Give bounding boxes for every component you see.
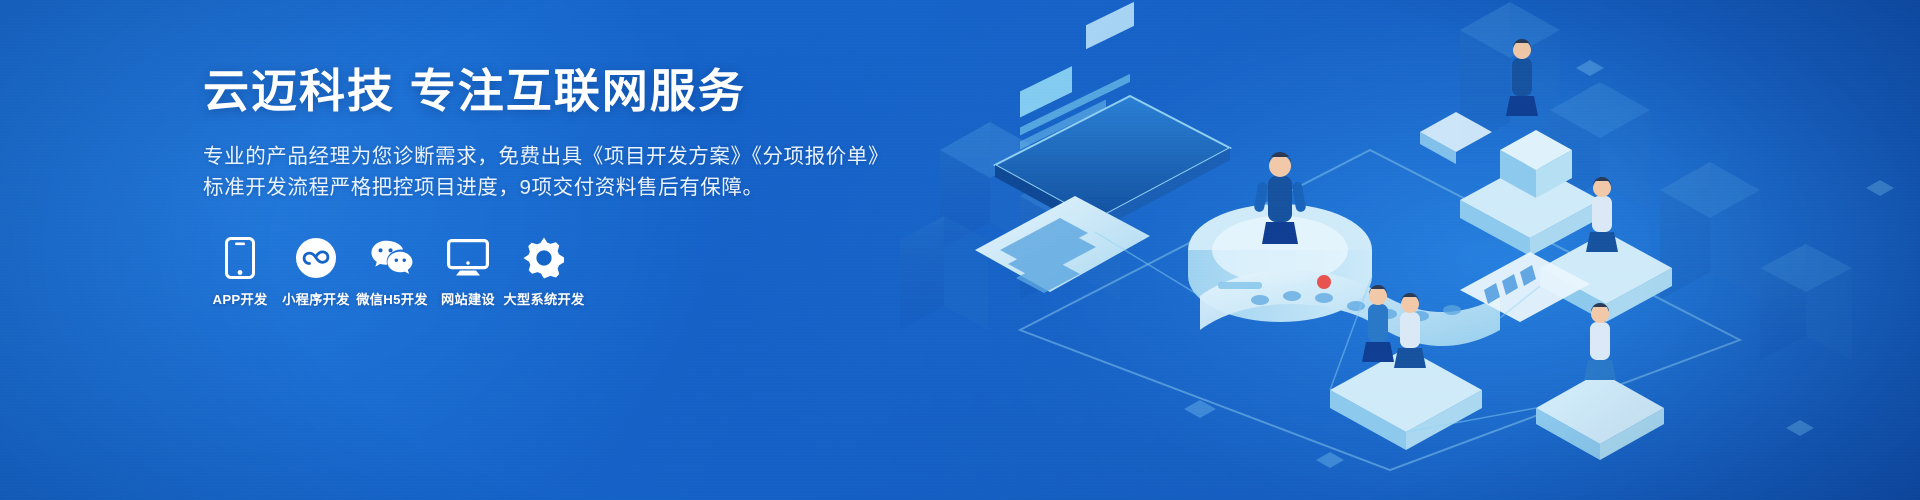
mobile-phone-icon [218,236,262,280]
banner-subtitle: 专业的产品经理为您诊断需求，免费出具《项目开发方案》《分项报价单》 标准开发流程… [203,141,923,203]
subtitle-line-1: 专业的产品经理为您诊断需求，免费出具《项目开发方案》《分项报价单》 [203,141,923,172]
service-label-app: APP开发 [213,293,268,306]
service-label-website: 网站建设 [441,293,495,306]
service-list: APP开发 小程序开发 [203,236,923,306]
service-item-website[interactable]: 网站建设 [431,236,505,306]
service-label-mini-program: 小程序开发 [282,293,349,306]
service-label-wechat-h5: 微信H5开发 [356,293,427,306]
promo-banner: 云迈科技 专注互联网服务 专业的产品经理为您诊断需求，免费出具《项目开发方案》《… [0,0,1920,500]
service-label-large-system: 大型系统开发 [504,293,585,306]
monitor-icon [446,236,490,280]
mini-program-icon [294,236,338,280]
banner-copy: 云迈科技 专注互联网服务 专业的产品经理为您诊断需求，免费出具《项目开发方案》《… [203,66,923,306]
banner-headline: 云迈科技 专注互联网服务 [203,66,923,118]
service-item-app[interactable]: APP开发 [203,236,277,306]
illustration-isometric-business-analytics [900,0,1920,500]
subtitle-line-2: 标准开发流程严格把控项目进度，9项交付资料售后有保障。 [203,172,923,203]
service-item-mini-program[interactable]: 小程序开发 [279,236,353,306]
gear-icon [522,236,566,280]
service-item-wechat-h5[interactable]: 微信H5开发 [355,236,429,306]
service-item-large-system[interactable]: 大型系统开发 [507,236,581,306]
wechat-icon [370,236,414,280]
platform-lower-right [1536,372,1664,460]
